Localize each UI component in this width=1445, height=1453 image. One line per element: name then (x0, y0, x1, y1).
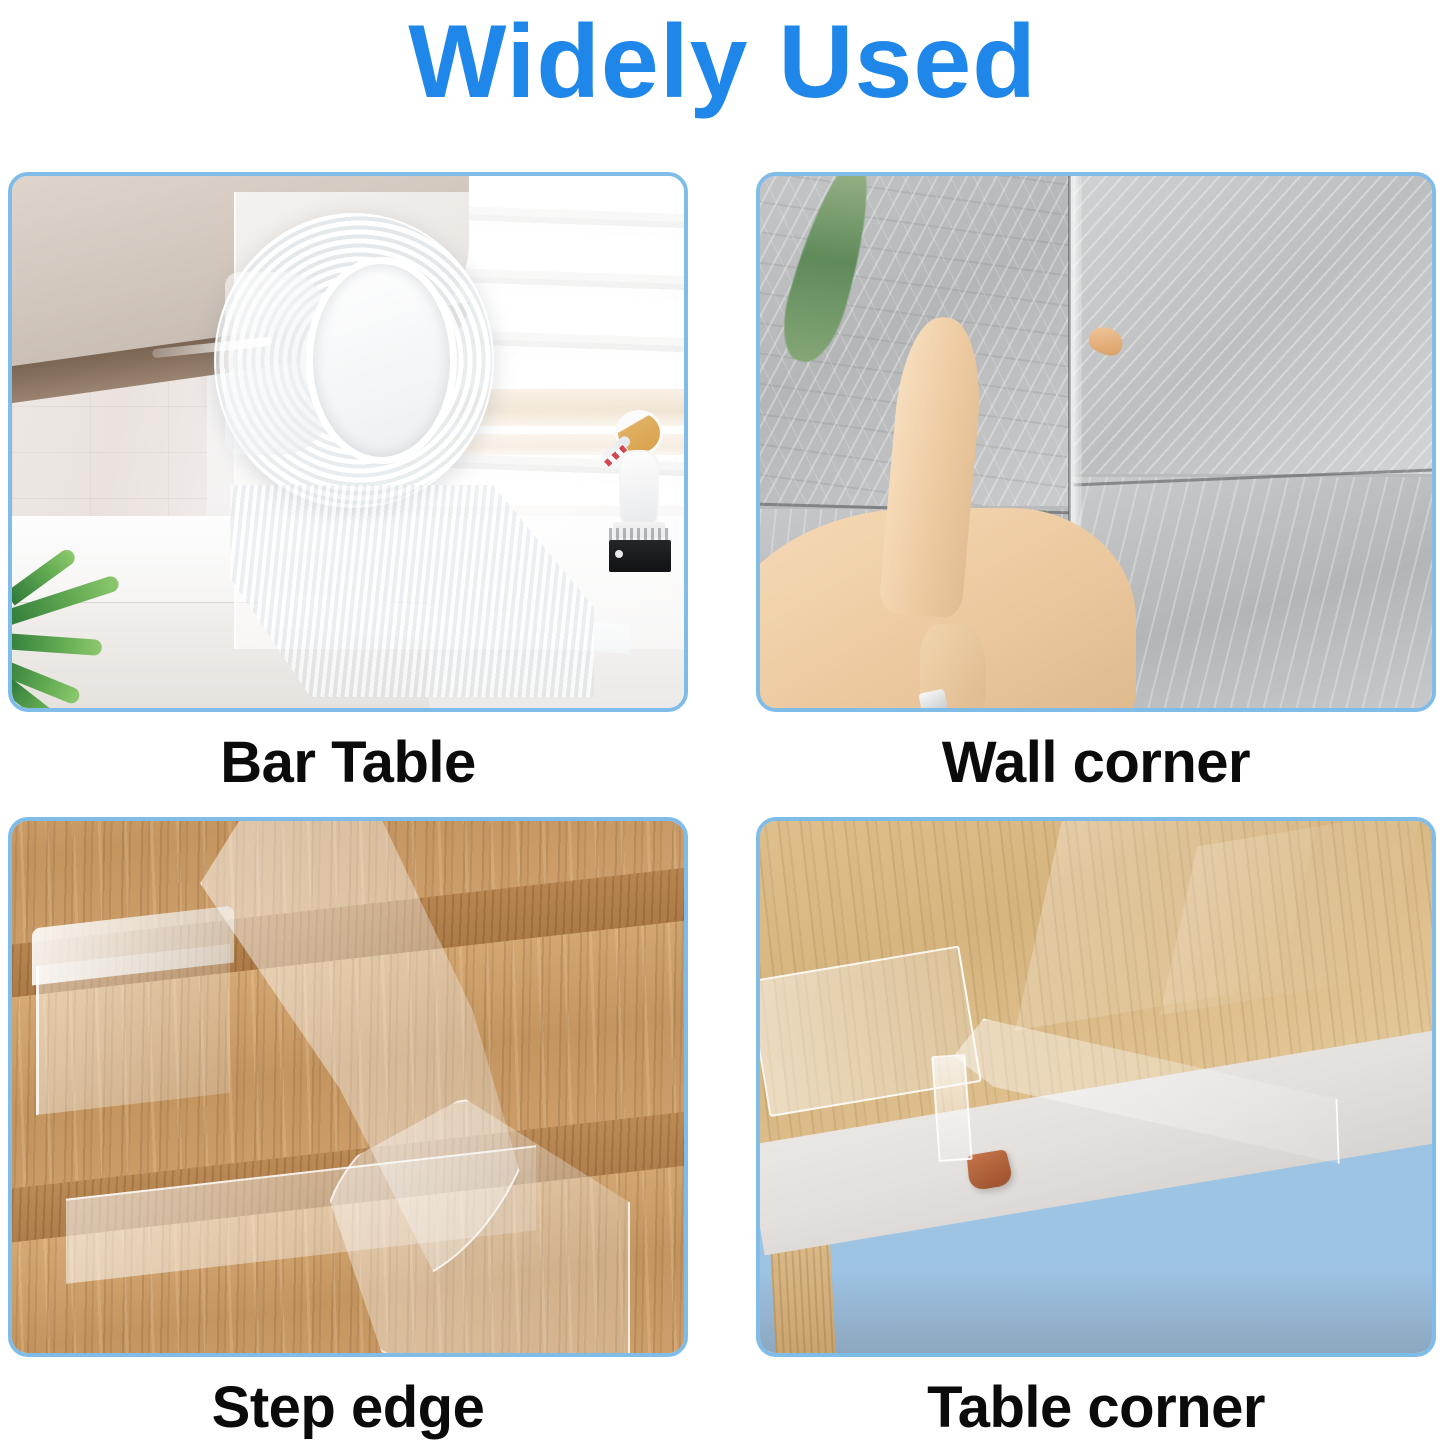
scene-table-corner (760, 821, 1432, 1353)
floor-shadow (760, 1268, 1432, 1353)
guard-side-face (36, 944, 230, 1115)
scene-bar-table (12, 176, 684, 708)
tape-roll (214, 213, 494, 508)
scene-step-edge (12, 821, 684, 1353)
infographic-page: Widely Used (0, 0, 1445, 1453)
corner-guard-joint (931, 1054, 972, 1162)
scene-wall-corner (760, 176, 1432, 708)
panel-grid: Bar Table (8, 172, 1437, 1442)
ring (918, 688, 948, 712)
photo-wall-corner (756, 172, 1436, 712)
desk-leg (770, 1234, 837, 1357)
caption-wall-corner: Wall corner (756, 734, 1436, 792)
astronaut-body (619, 450, 659, 526)
caption-table-corner: Table corner (756, 1379, 1436, 1437)
fern-frond (8, 633, 102, 656)
potted-fern (8, 586, 146, 712)
panel-table-corner: Table corner (756, 817, 1436, 1433)
astronaut-figurine (607, 410, 671, 570)
caption-step-edge: Step edge (8, 1379, 688, 1437)
tape-roll-core (306, 257, 457, 464)
product-box (609, 540, 671, 572)
panel-bar-table: Bar Table (8, 172, 688, 788)
photo-bar-table (8, 172, 688, 712)
caption-bar-table: Bar Table (8, 734, 688, 792)
page-title: Widely Used (0, 4, 1445, 120)
photo-step-edge (8, 817, 688, 1357)
shelf-label (609, 528, 669, 540)
panel-step-edge: Step edge (8, 817, 688, 1433)
guard-strip-end (32, 917, 234, 1109)
hand (756, 325, 1136, 712)
panel-wall-corner: Wall corner (756, 172, 1436, 788)
photo-table-corner (756, 817, 1436, 1357)
